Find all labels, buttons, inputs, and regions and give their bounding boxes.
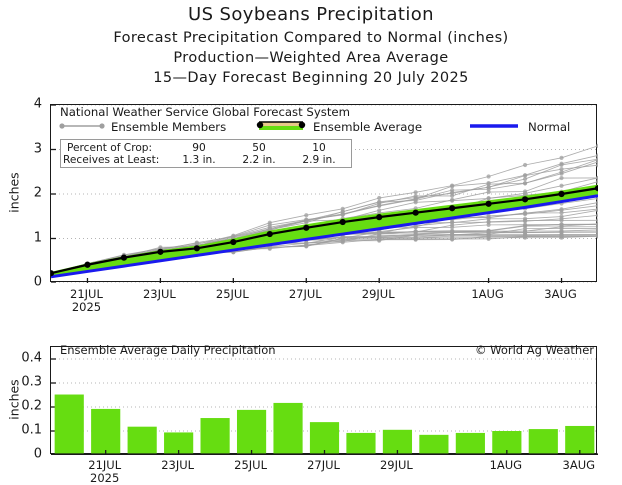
- daily-precip-svg: [51, 347, 598, 455]
- legend-source-label: National Weather Service Global Forecast…: [60, 105, 350, 119]
- daily-precip-bar: [91, 409, 120, 455]
- subtitle-line-3: 15—Day Forecast Beginning 20 July 2025: [0, 70, 622, 86]
- main-x-tick: 23JUL: [143, 287, 176, 301]
- copyright-label: © World Ag Weather: [475, 343, 594, 357]
- lower-y-tick: 0.2: [4, 399, 42, 414]
- daily-precip-bar: [346, 433, 375, 455]
- daily-precip-bar: [456, 433, 485, 455]
- lower-x-tick: 3AUG: [563, 458, 596, 472]
- percent-of-crop-box: Percent of Crop: Receives at Least: 90 5…: [60, 139, 352, 168]
- daily-precip-bar: [529, 429, 558, 455]
- crop-col-0-pct: 90: [177, 142, 221, 154]
- normal-legend-icon: [468, 121, 520, 131]
- legend-ensemble-members-label: Ensemble Members: [111, 120, 226, 134]
- main-y-tick: 1: [12, 230, 42, 245]
- legend-normal-label: Normal: [528, 120, 570, 134]
- page-title: US Soybeans Precipitation: [0, 4, 622, 25]
- lower-y-tick: 0: [4, 447, 42, 462]
- lower-x-tick: 23JUL: [161, 458, 194, 472]
- chart-page: US Soybeans Precipitation Forecast Preci…: [0, 0, 622, 483]
- main-y-tick: 2: [12, 186, 42, 201]
- crop-col-2-pct: 10: [297, 142, 341, 154]
- main-y-tick: 3: [12, 141, 42, 156]
- crop-col-1-value: 2.2 in.: [237, 154, 281, 166]
- lower-x-tick: 21JUL: [88, 458, 121, 472]
- main-x-tick: 25JUL: [216, 287, 249, 301]
- subtitle-line-1: Forecast Precipitation Compared to Norma…: [0, 30, 622, 46]
- ensemble-members-legend-icon: [58, 121, 106, 131]
- subtitle-line-2: Production—Weighted Area Average: [0, 50, 622, 66]
- main-x-tick: 1AUG: [471, 287, 504, 301]
- crop-col-0-value: 1.3 in.: [177, 154, 221, 166]
- daily-precip-bar: [55, 395, 84, 455]
- ensemble-average-legend-icon: [255, 120, 307, 132]
- daily-precip-bar: [237, 410, 266, 455]
- lower-y-tick: 0.1: [4, 423, 42, 438]
- daily-precip-bar: [201, 418, 230, 455]
- lower-x-tick: 25JUL: [234, 458, 267, 472]
- main-x-tick: 29JUL: [362, 287, 395, 301]
- daily-precip-bar: [419, 435, 448, 455]
- daily-precip-bars: [55, 395, 595, 455]
- daily-precip-plot: [50, 346, 597, 454]
- crop-row2-label: Receives at Least:: [63, 154, 159, 166]
- lower-panel-caption: Ensemble Average Daily Precipitation: [60, 343, 276, 357]
- daily-precip-bar: [128, 427, 157, 455]
- lower-y-tick: 0.3: [4, 375, 42, 390]
- main-y-tick: 0: [12, 275, 42, 290]
- crop-row1-label: Percent of Crop:: [67, 142, 152, 154]
- crop-col-1-pct: 50: [237, 142, 281, 154]
- daily-precip-bar: [273, 403, 302, 455]
- lower-x-tick: 29JUL: [380, 458, 413, 472]
- lower-x-tick: 1AUG: [490, 458, 523, 472]
- main-x-tick: 3AUG: [544, 287, 577, 301]
- crop-col-2-value: 2.9 in.: [297, 154, 341, 166]
- main-x-tick-year: 2025: [72, 300, 101, 314]
- legend-ensemble-average-label: Ensemble Average: [313, 120, 422, 134]
- lower-y-tick: 0.4: [4, 351, 42, 366]
- main-x-tick: 27JUL: [289, 287, 322, 301]
- lower-x-tick: 27JUL: [307, 458, 340, 472]
- main-x-tick: 21JUL: [70, 287, 103, 301]
- main-y-tick: 4: [12, 97, 42, 112]
